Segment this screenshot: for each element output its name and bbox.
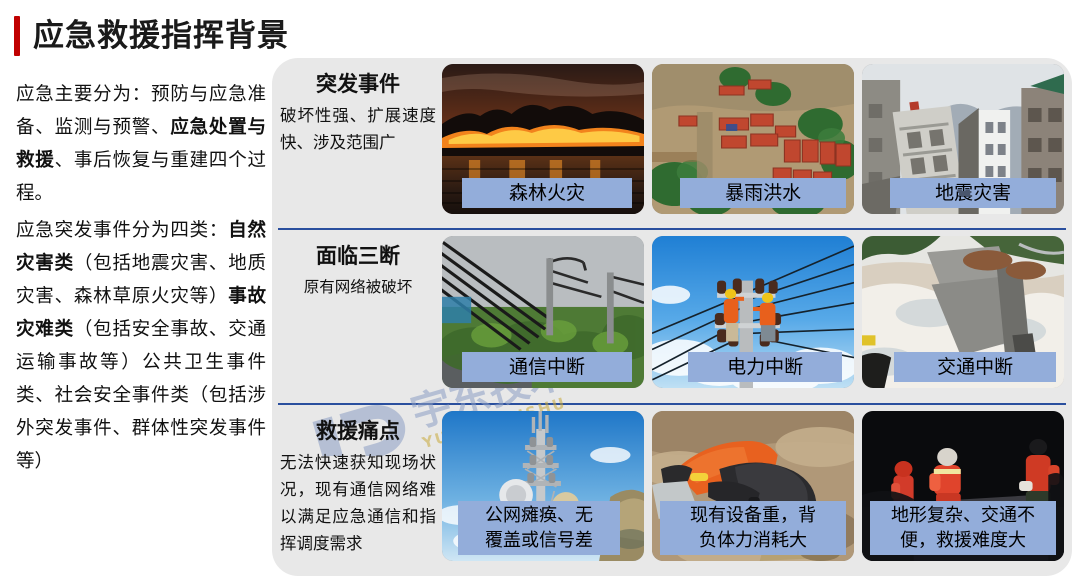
row-2-description: 原有网络被破坏: [280, 274, 436, 301]
card-rainstorm-flood[interactable]: 暴雨洪水: [652, 64, 854, 214]
row-2-header: 面临三断 原有网络被破坏: [272, 230, 442, 403]
card-communication-outage[interactable]: 通信中断: [442, 236, 644, 388]
card-caption: 暴雨洪水: [680, 178, 846, 208]
row-1-cards: 森林火灾: [442, 58, 1072, 228]
row-three-disruptions: 面临三断 原有网络被破坏: [272, 230, 1072, 403]
row-1-description: 破坏性强、扩展速度快、涉及范围广: [280, 102, 436, 156]
title-text: 应急救援指挥背景: [33, 16, 289, 56]
card-caption: 公网瘫痪、无 覆盖或信号差: [458, 501, 620, 555]
row-sudden-events: 突发事件 破坏性强、扩展速度快、涉及范围广: [272, 58, 1072, 228]
card-caption: 现有设备重，背 负体力消耗大: [660, 501, 846, 555]
row-1-header: 突发事件 破坏性强、扩展速度快、涉及范围广: [272, 58, 442, 228]
card-caption: 通信中断: [462, 352, 632, 382]
card-caption: 电力中断: [688, 352, 842, 382]
card-earthquake-disaster[interactable]: 地震灾害: [862, 64, 1064, 214]
row-rescue-painpoints: 救援痛点 无法快速获知现场状况，现有通信网络难以满足应急通信和指挥调度需求: [272, 405, 1072, 576]
row-1-heading: 突发事件: [280, 68, 436, 98]
paragraph-1: 应急主要分为：预防与应急准备、监测与预警、应急处置与救援、事后恢复与重建四个过程…: [16, 78, 266, 210]
row-3-description: 无法快速获知现场状况，现有通信网络难以满足应急通信和指挥调度需求: [280, 449, 436, 557]
row-3-cards: 公网瘫痪、无 覆盖或信号差: [442, 405, 1072, 576]
content-panel: 宇东技术 YUDONG JISHU 突发事件 破坏性强、扩展速度快、涉及范围广: [272, 58, 1072, 576]
card-public-network-down[interactable]: 公网瘫痪、无 覆盖或信号差: [442, 411, 644, 561]
p2-part-a: 应急突发事件分为四类：: [16, 220, 228, 241]
title-accent-bar: [14, 16, 20, 56]
row-2-cards: 通信中断: [442, 230, 1072, 403]
card-forest-fire[interactable]: 森林火灾: [442, 64, 644, 214]
paragraph-2: 应急突发事件分为四类：自然灾害类（包括地震灾害、地质灾害、森林草原火灾等）事故灾…: [16, 214, 266, 478]
card-heavy-equipment[interactable]: 现有设备重，背 负体力消耗大: [652, 411, 854, 561]
card-caption: 交通中断: [894, 352, 1056, 382]
card-complex-terrain[interactable]: 地形复杂、交通不 便，救援难度大: [862, 411, 1064, 561]
row-2-heading: 面临三断: [280, 240, 436, 270]
p2-part-e: （包括安全事故、交通运输事故等）公共卫生事件类、社会安全事件类（包括涉外突发事件…: [16, 319, 266, 472]
page-title: 应急救援指挥背景: [14, 16, 289, 56]
row-3-heading: 救援痛点: [280, 415, 436, 445]
row-3-header: 救援痛点 无法快速获知现场状况，现有通信网络难以满足应急通信和指挥调度需求: [272, 405, 442, 576]
card-traffic-outage[interactable]: 交通中断: [862, 236, 1064, 388]
card-power-outage[interactable]: 电力中断: [652, 236, 854, 388]
left-text-column: 应急主要分为：预防与应急准备、监测与预警、应急处置与救援、事后恢复与重建四个过程…: [16, 78, 266, 482]
card-caption: 地形复杂、交通不 便，救援难度大: [870, 501, 1056, 555]
card-caption: 地震灾害: [890, 178, 1056, 208]
card-caption: 森林火灾: [462, 178, 632, 208]
